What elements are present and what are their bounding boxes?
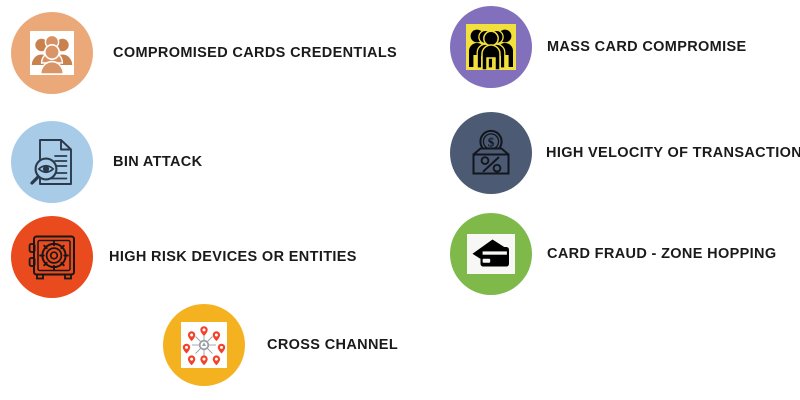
item-label: BIN ATTACK (113, 155, 202, 170)
item-label: CROSS CHANNEL (267, 338, 398, 353)
infographic-canvas: COMPROMISED CARDS CREDENTIALS (0, 0, 800, 400)
item-label: HIGH VELOCITY OF TRANSACTION (546, 146, 800, 161)
item-card-fraud-zone-hopping[interactable]: CARD FRAUD - ZONE HOPPING (450, 213, 776, 295)
item-high-velocity-of-transaction[interactable]: $ HIGH VELOCITY OF TRANSACTION (450, 112, 800, 194)
network-hub-map-pins-icon (181, 322, 227, 368)
badge-mass-card-compromise[interactable] (450, 6, 532, 88)
svg-text:$: $ (488, 135, 495, 150)
item-label: MASS CARD COMPROMISE (547, 40, 747, 55)
item-label: HIGH RISK DEVICES OR ENTITIES (109, 250, 357, 265)
badge-high-risk-devices-or-entities[interactable] (11, 216, 93, 298)
document-magnifier-eye-icon (27, 136, 77, 188)
item-bin-attack[interactable]: BIN ATTACK (11, 121, 202, 203)
safe-vault-icon (25, 232, 79, 282)
item-label: COMPROMISED CARDS CREDENTIALS (113, 46, 397, 61)
crowd-of-people-icon (466, 24, 516, 70)
group-of-people-icon (30, 31, 74, 75)
item-compromised-cards-credentials[interactable]: COMPROMISED CARDS CREDENTIALS (11, 12, 397, 94)
badge-bin-attack[interactable] (11, 121, 93, 203)
item-label: CARD FRAUD - ZONE HOPPING (547, 247, 776, 262)
item-cross-channel[interactable]: CROSS CHANNEL (163, 304, 398, 386)
item-high-risk-devices-or-entities[interactable]: HIGH RISK DEVICES OR ENTITIES (11, 216, 357, 298)
credit-cards-icon (467, 234, 515, 274)
badge-cross-channel[interactable] (163, 304, 245, 386)
badge-high-velocity-of-transaction[interactable]: $ (450, 112, 532, 194)
item-mass-card-compromise[interactable]: MASS CARD COMPROMISE (450, 6, 747, 88)
coin-deposit-percent-icon: $ (464, 128, 518, 178)
badge-compromised-cards-credentials[interactable] (11, 12, 93, 94)
badge-card-fraud-zone-hopping[interactable] (450, 213, 532, 295)
